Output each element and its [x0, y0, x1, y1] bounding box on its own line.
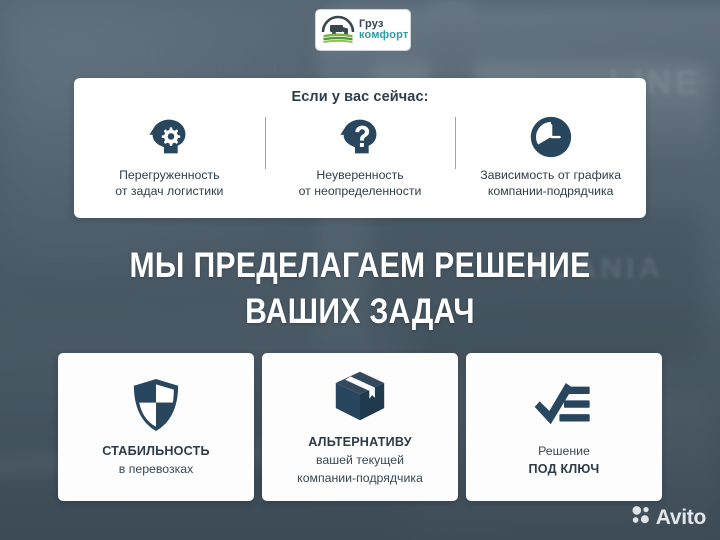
solution-card-text: АЛЬТЕРНАТИВУ вашей текущей компании-подр…: [297, 433, 423, 487]
clock-icon: [529, 113, 573, 161]
problems-list: Перегруженность от задач логистики Неуве…: [74, 113, 646, 213]
checkmark-list-icon: [531, 374, 597, 436]
solution-card-subtitle: Решение: [538, 444, 590, 458]
solution-card-stability[interactable]: СТАБИЛЬНОСТЬ в перевозках: [58, 353, 254, 501]
problem-item-label: Зависимость от графика компании-подрядчи…: [480, 168, 621, 199]
problem-item-label: Перегруженность от задач логистики: [115, 168, 223, 199]
brand-logo-text: Груз комфорт: [359, 19, 409, 41]
poster-root: LINE SCANIA Груз комфорт Если у вас сейч…: [0, 0, 720, 540]
avito-label: Avito: [656, 506, 706, 530]
problem-item-overload: Перегруженность от задач логистики: [74, 113, 265, 213]
solution-card-text: СТАБИЛЬНОСТЬ в перевозках: [102, 442, 210, 478]
solution-card-text: Решение ПОД КЛЮЧ: [529, 442, 600, 478]
solution-card-title: СТАБИЛЬНОСТЬ: [102, 444, 210, 458]
head-gear-icon: [147, 113, 191, 161]
solution-card-title: АЛЬТЕРНАТИВУ: [308, 435, 412, 449]
page-headline: МЫ ПРЕДЕЛАГАЕМ РЕШЕНИЕ ВАШИХ ЗАДАЧ: [50, 243, 669, 334]
solution-card-subtitle: вашей текущей компании-подрядчика: [297, 453, 423, 485]
avito-dots-icon: [631, 505, 651, 530]
truck-in-arch-icon: [321, 15, 355, 45]
avito-watermark: Avito: [631, 505, 706, 530]
box-icon: [332, 365, 388, 427]
problem-item-schedule-dependency: Зависимость от графика компании-подрядчи…: [455, 113, 646, 213]
problem-item-label: Неуверенность от неопределенности: [299, 168, 422, 199]
solution-card-alternative[interactable]: АЛЬТЕРНАТИВУ вашей текущей компании-подр…: [262, 353, 458, 501]
solution-card-title: ПОД КЛЮЧ: [529, 462, 600, 476]
brand-logo[interactable]: Груз комфорт: [315, 9, 411, 51]
problems-panel-title: Если у вас сейчас:: [74, 89, 646, 105]
shield-icon: [131, 374, 181, 436]
solution-card-turnkey[interactable]: Решение ПОД КЛЮЧ: [466, 353, 662, 501]
solution-card-subtitle: в перевозках: [119, 462, 194, 476]
solution-cards: СТАБИЛЬНОСТЬ в перевозках АЛЬТЕРНАТИВУ в…: [58, 353, 662, 501]
problem-item-uncertainty: Неуверенность от неопределенности: [265, 113, 456, 213]
problems-panel: Если у вас сейчас: Перегруженность от за…: [74, 78, 646, 218]
brand-name-line2: комфорт: [359, 30, 409, 41]
head-question-icon: [338, 113, 382, 161]
